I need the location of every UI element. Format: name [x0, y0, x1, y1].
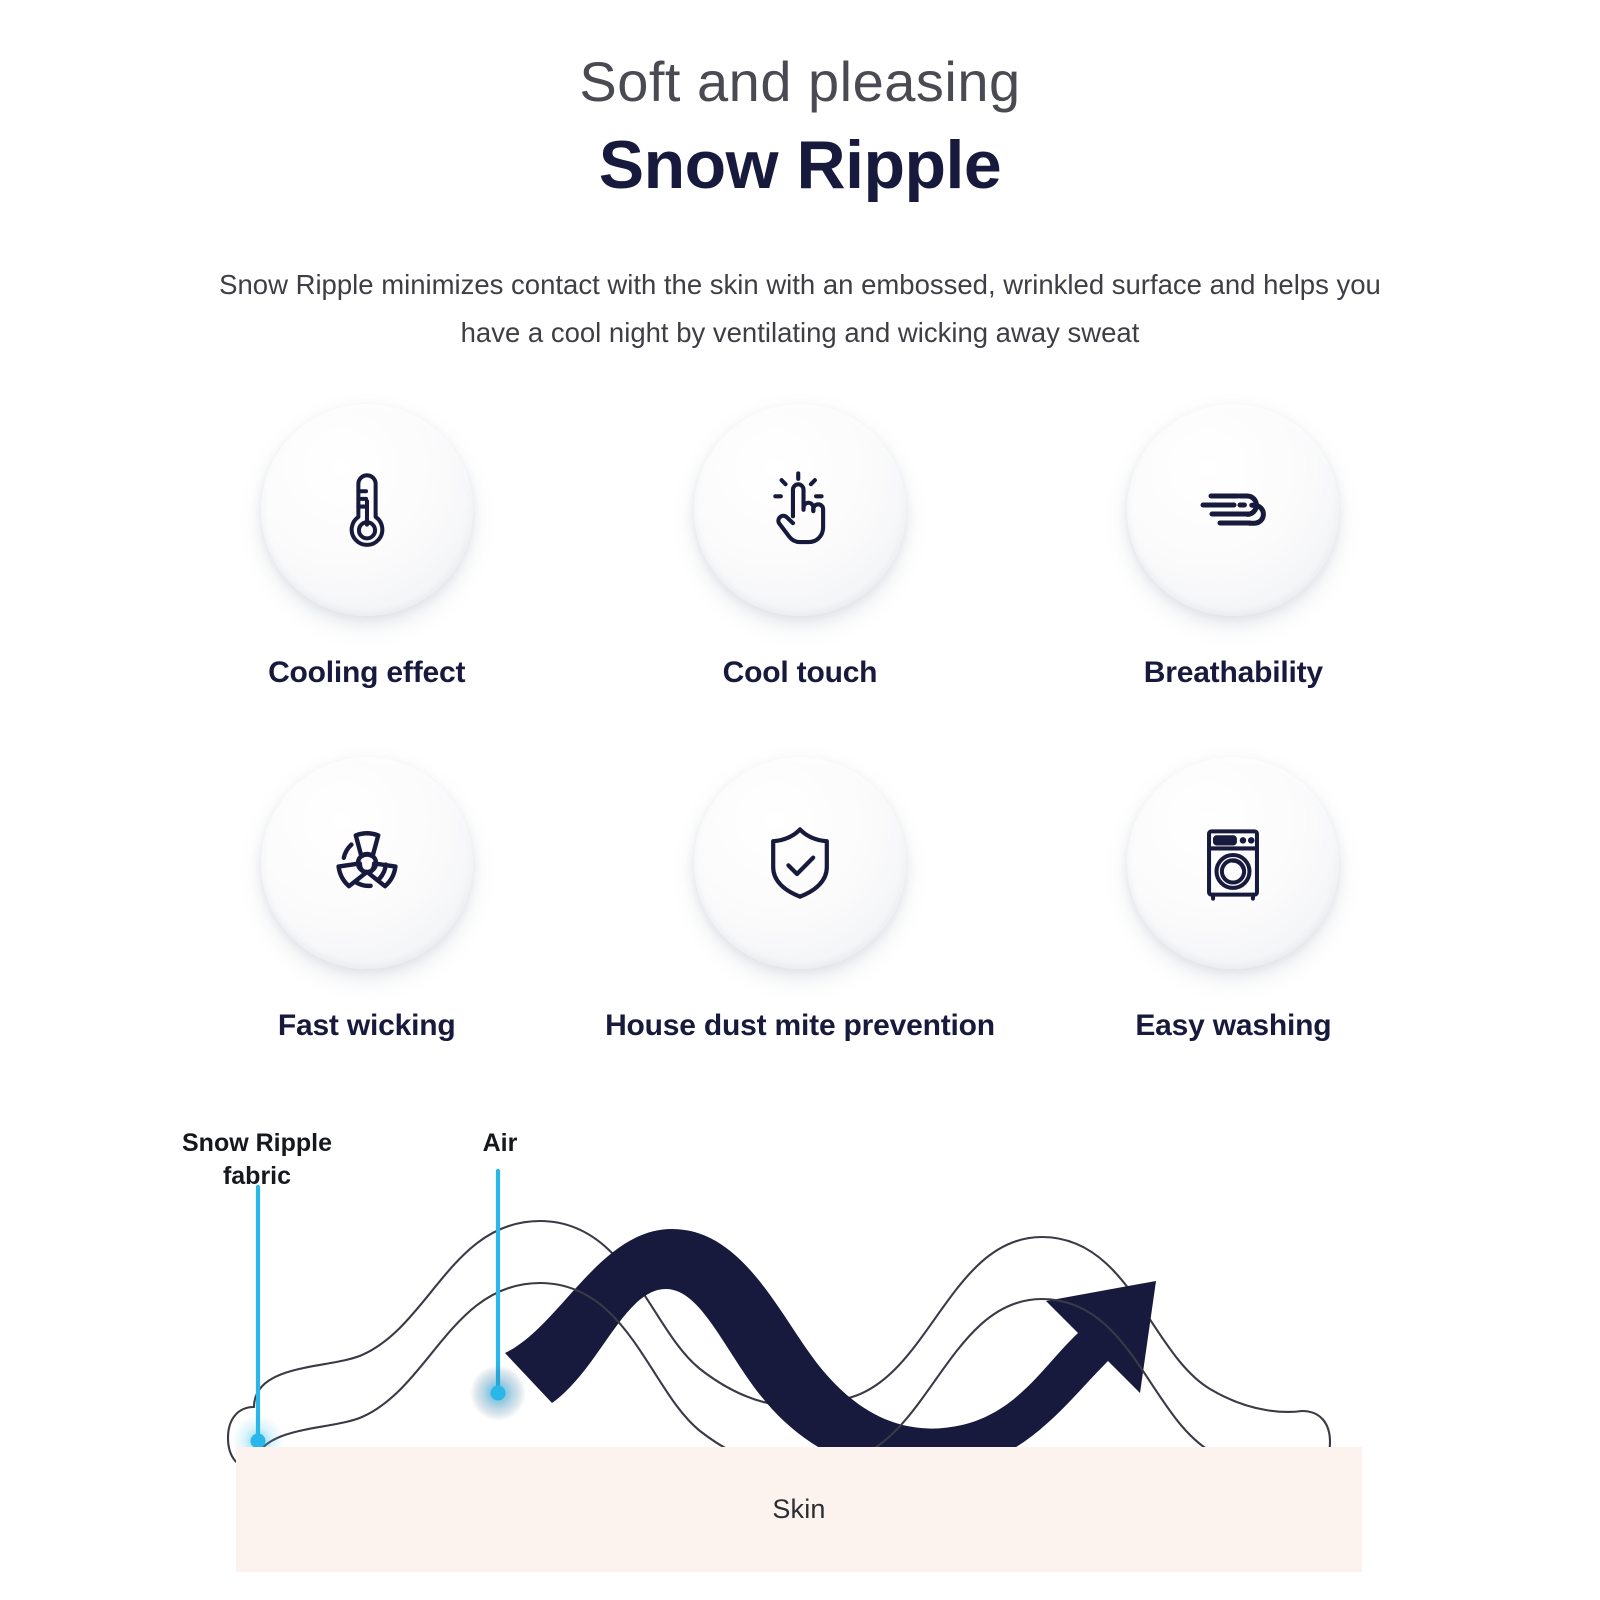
feature-item-cooling-effect: Cooling effect: [150, 404, 583, 692]
feature-item-fast-wicking: Fast wicking: [150, 757, 583, 1045]
skin-label: Skin: [772, 1494, 825, 1525]
feature-badge: [261, 404, 473, 616]
feature-badge: [1127, 404, 1339, 616]
thermometer-icon: [321, 464, 413, 556]
feature-badge: [261, 757, 473, 969]
snow-ripple-product-page: Soft and pleasing Snow Ripple Snow Rippl…: [0, 0, 1600, 1600]
page-title: Snow Ripple: [0, 122, 1600, 209]
feature-item-easy-washing: Easy washing: [1017, 757, 1450, 1045]
fan-blades-icon: [319, 815, 415, 911]
feature-label: Cool touch: [723, 654, 878, 692]
eyebrow-text: Soft and pleasing: [0, 48, 1600, 116]
feature-item-breathability: Breathability: [1017, 404, 1450, 692]
feature-label: House dust mite prevention: [605, 1007, 995, 1045]
feature-label: Fast wicking: [278, 1007, 456, 1045]
feature-badge: [694, 404, 906, 616]
wind-icon: [1185, 462, 1281, 558]
callout-leader-fabric: [232, 1187, 284, 1467]
feature-badge: [694, 757, 906, 969]
feature-grid: Cooling effect Cool: [0, 404, 1600, 1045]
hand-tap-icon: [753, 463, 847, 557]
feature-item-dust-mite-prevention: House dust mite prevention: [583, 757, 1016, 1045]
callout-label-air: Air: [430, 1127, 570, 1160]
feature-badge: [1127, 757, 1339, 969]
washing-machine-icon: [1187, 817, 1279, 909]
callout-label-fabric: Snow Ripple fabric: [172, 1127, 342, 1193]
skin-layer-band: Skin: [236, 1447, 1362, 1572]
feature-label: Breathability: [1144, 654, 1323, 692]
shield-check-icon: [752, 815, 848, 911]
feature-label: Easy washing: [1135, 1007, 1331, 1045]
feature-item-cool-touch: Cool touch: [583, 404, 1016, 692]
feature-label: Cooling effect: [268, 654, 465, 692]
page-header: Soft and pleasing Snow Ripple Snow Rippl…: [0, 0, 1600, 356]
intro-paragraph: Snow Ripple minimizes contact with the s…: [195, 261, 1405, 356]
